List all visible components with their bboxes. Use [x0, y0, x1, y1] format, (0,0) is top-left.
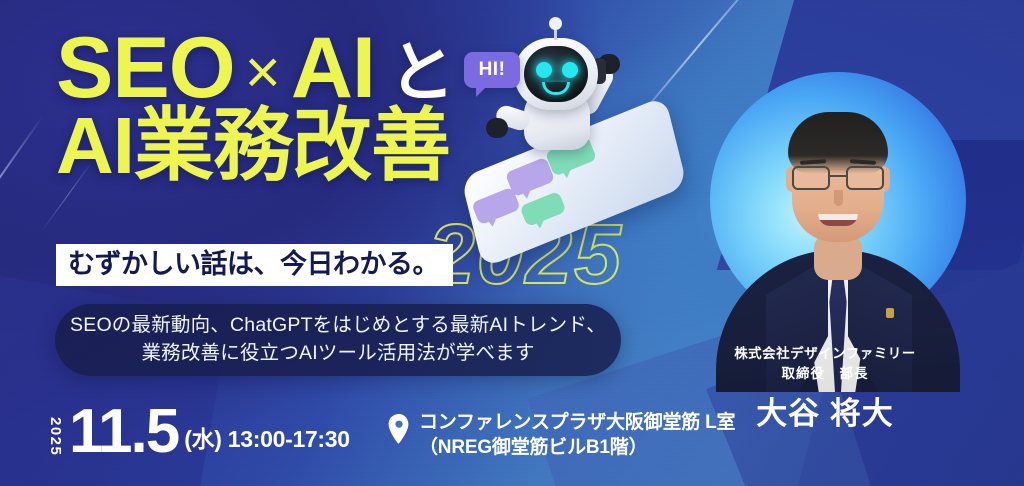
event-banner: 2025 HI! SEO × AI と AI業務改善	[0, 0, 1024, 486]
glasses-icon	[790, 166, 886, 192]
description-line-2: 業務改善に役立つAIツール活用法が学べます	[141, 340, 534, 368]
robot-left-eye-icon	[536, 62, 552, 78]
portrait-teeth	[818, 214, 858, 220]
event-date-block: 2025 11.5 (水) 13:00-17:30	[48, 405, 350, 460]
event-venue-block: コンファレンスプラザ大阪御堂筋 L室 （NREG御堂筋ビルB1階）	[388, 410, 735, 460]
headline-ai: AI	[291, 26, 375, 110]
glasses-right-lens	[846, 166, 884, 190]
glasses-left-lens	[792, 166, 830, 190]
robot-left-hand	[486, 118, 508, 138]
headline-seo: SEO	[56, 26, 235, 110]
speech-bubble: HI!	[464, 52, 520, 88]
diagonal-streak-icon	[0, 116, 43, 265]
speech-bubble-text: HI!	[479, 59, 506, 81]
event-year: 2025	[48, 417, 63, 456]
robot-right-eye-icon	[562, 62, 578, 78]
event-date: 11.5	[69, 405, 178, 460]
speaker-company: 株式会社デザインファミリー	[640, 342, 1010, 362]
venue-line-2: （NREG御堂筋ビルB1階）	[419, 435, 735, 460]
description-pill: SEOの最新動向、ChatGPTをはじめとする最新AIトレンド、 業務改善に役立…	[55, 304, 621, 376]
headline-line2: AI業務改善	[56, 104, 455, 188]
tagline-box: むずかしい話は、今日わかる。	[56, 244, 453, 286]
headline-to-particle: と	[389, 40, 455, 105]
location-pin-icon	[388, 414, 410, 444]
glasses-bridge	[830, 175, 846, 177]
description-line-1: SEOの最新動向、ChatGPTをはじめとする最新AIトレンド、	[70, 312, 606, 340]
headline-group: SEO × AI と AI業務改善	[56, 26, 455, 188]
portrait-lapel-pin	[886, 308, 894, 318]
headline-times-symbol: ×	[245, 43, 281, 104]
event-day-time: (水) 13:00-17:30	[184, 420, 350, 454]
speaker-title: 取締役 部長	[640, 362, 1010, 382]
venue-line-1: コンファレンスプラザ大阪御堂筋 L室	[419, 410, 735, 435]
portrait-mouth	[818, 214, 858, 226]
robot-antenna-tip	[549, 17, 562, 30]
venue-text: コンファレンスプラザ大阪御堂筋 L室 （NREG御堂筋ビルB1階）	[419, 410, 735, 460]
portrait-nose	[834, 190, 843, 206]
